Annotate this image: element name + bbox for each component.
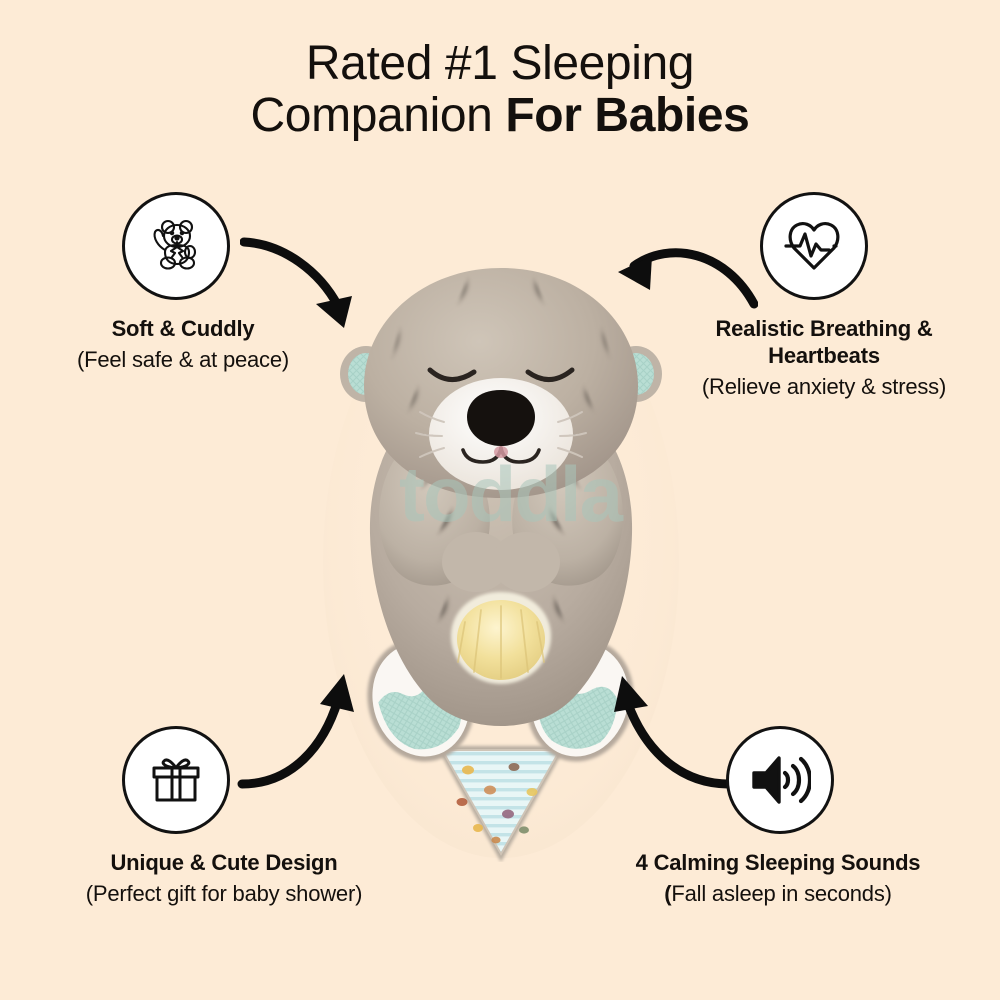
feature-realistic-breathing[interactable]: Realistic Breathing & Heartbeats (Reliev…	[648, 192, 1000, 400]
feature-icon-circle-realistic-breathing	[760, 192, 868, 300]
feature-icon-circle-calming-sounds	[726, 726, 834, 834]
feature-subtitle-calming-sounds: (Fall asleep in seconds)	[578, 880, 978, 908]
feature-title-soft-cuddly: Soft & Cuddly	[18, 316, 348, 343]
feature-title-calming-sounds: 4 Calming Sleeping Sounds	[578, 850, 978, 877]
gift-icon	[146, 750, 206, 810]
heartbeat-icon	[782, 216, 846, 276]
feature-title-realistic-breathing: Realistic Breathing & Heartbeats	[648, 316, 1000, 370]
title-line-2: Companion For Babies	[0, 90, 1000, 142]
plush-head	[364, 268, 638, 498]
feature-title-line-2: Heartbeats	[768, 343, 880, 368]
plush-shell	[451, 592, 551, 684]
feature-subtitle-text: Fall asleep in seconds)	[671, 881, 891, 906]
title-line-1: Rated #1 Sleeping	[0, 38, 1000, 90]
feature-icon-circle-unique-cute-design	[122, 726, 230, 834]
feature-unique-cute-design[interactable]: Unique & Cute Design (Perfect gift for b…	[24, 726, 424, 907]
feature-subtitle-realistic-breathing: (Relieve anxiety & stress)	[648, 373, 1000, 401]
teddy-bear-icon	[144, 214, 208, 278]
title-line-2-bold: For Babies	[505, 89, 749, 142]
feature-title-unique-cute-design: Unique & Cute Design	[24, 850, 424, 877]
feature-title-line-1: Realistic Breathing &	[715, 316, 932, 341]
feature-subtitle-soft-cuddly: (Feel safe & at peace)	[18, 346, 348, 374]
feature-soft-cuddly[interactable]: Soft & Cuddly (Feel safe & at peace)	[18, 192, 348, 373]
infographic-canvas: Rated #1 Sleeping Companion For Babies	[0, 0, 1000, 1000]
feature-calming-sounds[interactable]: 4 Calming Sleeping Sounds (Fall asleep i…	[578, 726, 978, 907]
feature-subtitle-unique-cute-design: (Perfect gift for baby shower)	[24, 880, 424, 908]
speaker-icon	[749, 751, 811, 809]
page-title: Rated #1 Sleeping Companion For Babies	[0, 38, 1000, 142]
title-line-2-regular: Companion	[251, 89, 506, 142]
feature-icon-circle-soft-cuddly	[122, 192, 230, 300]
